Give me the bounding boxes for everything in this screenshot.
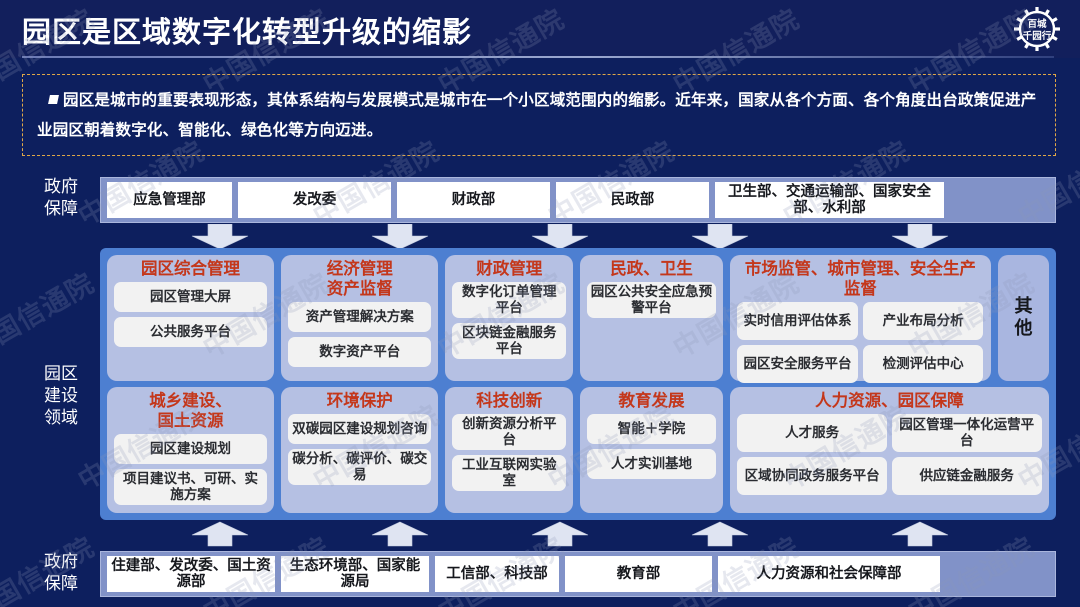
domain-card[interactable]: 人力资源、园区保障人才服务园区管理一体化运营平台区域协同政务服务平台供应链金融服…: [730, 387, 1049, 513]
government-department-cell[interactable]: 生态环境部、国家能源局: [281, 556, 429, 592]
platform-pill[interactable]: 数字资产平台: [288, 337, 431, 367]
park-domain-panel: 园区综合管理园区管理大屏公共服务平台经济管理 资产监督资产管理解决方案数字资产平…: [100, 248, 1056, 520]
government-department-cell[interactable]: 工信部、科技部: [435, 556, 559, 592]
platform-pill[interactable]: 工业互联网实验室: [452, 455, 566, 491]
square-bullet-icon: [48, 95, 59, 104]
connector-up: [530, 521, 590, 549]
domain-card-items: 资产管理解决方案数字资产平台: [288, 302, 431, 375]
description-text: 园区是城市的重要表现形态，其体系结构与发展模式是城市在一个小区域范围内的缩影。近…: [37, 85, 1041, 145]
platform-pill[interactable]: 园区管理一体化运营平台: [892, 414, 1042, 452]
government-department-cell[interactable]: 卫生部、交通运输部、国家安全部、水利部: [715, 182, 944, 218]
platform-pill[interactable]: 项目建议书、可研、实施方案: [114, 469, 267, 505]
row-label-park-construction: 园区 建设 领域: [26, 363, 96, 429]
domain-card-items: 人才服务园区管理一体化运营平台区域协同政务服务平台供应链金融服务: [737, 414, 1042, 507]
platform-pill[interactable]: 创新资源分析平台: [452, 414, 566, 450]
domain-card-title: 环境保护: [327, 391, 393, 411]
brand-logo-gear-icon: 百城 千园行: [1010, 3, 1064, 55]
slide-root: 园区是区域数字化转型升级的缩影 百城 千园行: [0, 0, 1080, 607]
government-department-cell[interactable]: 民政部: [556, 182, 709, 218]
arrow-down-icon: [890, 224, 950, 250]
domain-card[interactable]: 教育发展智能＋学院人才实训基地: [580, 387, 723, 513]
domain-card[interactable]: 科技创新创新资源分析平台工业互联网实验室: [445, 387, 573, 513]
platform-pill[interactable]: 实时信用评估体系: [737, 302, 858, 340]
platform-pill[interactable]: 园区公共安全应急预警平台: [587, 282, 716, 318]
domain-card-items: 智能＋学院人才实训基地: [587, 414, 716, 507]
platform-pill[interactable]: 双碳园区建设规划咨询: [288, 414, 431, 444]
domain-card-items: 数字化订单管理平台区块链金融服务平台: [452, 282, 566, 375]
domain-card[interactable]: 城乡建设、 国土资源园区建设规划项目建议书、可研、实施方案: [107, 387, 274, 513]
government-department-cell[interactable]: 财政部: [397, 182, 550, 218]
platform-pill[interactable]: 碳分析、碳评价、碳交易: [288, 449, 431, 485]
svg-text:百城: 百城: [1027, 18, 1047, 30]
government-department-cell[interactable]: 应急管理部: [107, 182, 232, 218]
domain-card[interactable]: 财政管理数字化订单管理平台区块链金融服务平台: [445, 255, 573, 381]
platform-pill[interactable]: 供应链金融服务: [892, 457, 1042, 495]
platform-pill[interactable]: 园区建设规划: [114, 434, 267, 464]
title-bar: 园区是区域数字化转型升级的缩影: [0, 0, 1080, 58]
domain-card-title: 教育发展: [619, 391, 685, 411]
domain-card-title: 市场监管、城市管理、安全生产监督: [737, 259, 984, 299]
government-strip-top: 应急管理部发改委财政部民政部卫生部、交通运输部、国家安全部、水利部: [100, 177, 1056, 223]
domain-card[interactable]: 经济管理 资产监督资产管理解决方案数字资产平台: [281, 255, 438, 381]
arrow-up-icon: [890, 521, 950, 547]
domain-card-title: 财政管理: [476, 259, 542, 279]
platform-pill[interactable]: 区块链金融服务平台: [452, 323, 566, 359]
government-department-cell[interactable]: 教育部: [565, 556, 712, 592]
domain-card[interactable]: 市场监管、城市管理、安全生产监督实时信用评估体系产业布局分析园区安全服务平台检测…: [730, 255, 991, 381]
arrow-up-icon: [690, 521, 750, 547]
arrow-up-icon: [370, 521, 430, 547]
row-label-government-bottom: 政府 保障: [26, 551, 96, 595]
government-department-cell[interactable]: 发改委: [238, 182, 391, 218]
panel-row: 城乡建设、 国土资源园区建设规划项目建议书、可研、实施方案环境保护双碳园区建设规…: [107, 387, 1049, 513]
domain-card-title: 园区综合管理: [141, 259, 240, 279]
page-title: 园区是区域数字化转型升级的缩影: [22, 9, 472, 51]
connector-up: [370, 521, 430, 549]
arrow-down-icon: [530, 224, 590, 250]
domain-card-items: 园区公共安全应急预警平台: [587, 282, 716, 375]
platform-pill[interactable]: 园区安全服务平台: [737, 345, 858, 383]
platform-pill[interactable]: 人才服务: [737, 414, 887, 452]
domain-card-items: 园区管理大屏公共服务平台: [114, 282, 267, 375]
platform-pill[interactable]: 区域协同政务服务平台: [737, 457, 887, 495]
platform-pill[interactable]: 人才实训基地: [587, 449, 716, 479]
arrow-up-icon: [530, 521, 590, 547]
domain-card-title: 民政、卫生: [610, 259, 693, 279]
domain-card-items: 实时信用评估体系产业布局分析园区安全服务平台检测评估中心: [737, 302, 984, 383]
connector-up: [190, 521, 250, 549]
other-category-box[interactable]: 其他: [998, 255, 1049, 381]
arrow-band-bottom: [100, 521, 1056, 549]
platform-pill[interactable]: 公共服务平台: [114, 317, 267, 347]
domain-card-title: 城乡建设、 国土资源: [149, 391, 232, 431]
arrow-up-icon: [190, 521, 250, 547]
arrow-down-icon: [190, 224, 250, 250]
connector-up: [890, 521, 950, 549]
panel-row: 园区综合管理园区管理大屏公共服务平台经济管理 资产监督资产管理解决方案数字资产平…: [107, 255, 1049, 381]
domain-card-title: 经济管理 资产监督: [327, 259, 393, 299]
other-category-label: 其他: [1013, 296, 1035, 340]
domain-card-items: 创新资源分析平台工业互联网实验室: [452, 414, 566, 507]
domain-card[interactable]: 民政、卫生园区公共安全应急预警平台: [580, 255, 723, 381]
platform-pill[interactable]: 产业布局分析: [863, 302, 984, 340]
domain-card[interactable]: 园区综合管理园区管理大屏公共服务平台: [107, 255, 274, 381]
platform-pill[interactable]: 园区管理大屏: [114, 282, 267, 312]
platform-pill[interactable]: 数字化订单管理平台: [452, 282, 566, 318]
domain-card-items: 园区建设规划项目建议书、可研、实施方案: [114, 434, 267, 507]
title-divider: [22, 56, 1054, 58]
platform-pill[interactable]: 检测评估中心: [863, 345, 984, 383]
arrow-down-icon: [370, 224, 430, 250]
government-department-cell[interactable]: 人力资源和社会保障部: [718, 556, 940, 592]
platform-pill[interactable]: 资产管理解决方案: [288, 302, 431, 332]
description-callout: 园区是城市的重要表现形态，其体系结构与发展模式是城市在一个小区域范围内的缩影。近…: [22, 74, 1056, 156]
domain-card[interactable]: 环境保护双碳园区建设规划咨询碳分析、碳评价、碳交易: [281, 387, 438, 513]
connector-up: [690, 521, 750, 549]
government-strip-bottom: 住建部、发改委、国土资源部生态环境部、国家能源局工信部、科技部教育部人力资源和社…: [100, 551, 1056, 597]
domain-card-title: 人力资源、园区保障: [815, 391, 964, 411]
row-label-government-top: 政府 保障: [26, 176, 96, 220]
arrow-down-icon: [690, 224, 750, 250]
svg-text:千园行: 千园行: [1023, 30, 1052, 42]
government-department-cell[interactable]: 住建部、发改委、国土资源部: [107, 556, 275, 592]
domain-card-title: 科技创新: [476, 391, 542, 411]
domain-card-items: 双碳园区建设规划咨询碳分析、碳评价、碳交易: [288, 414, 431, 507]
platform-pill[interactable]: 智能＋学院: [587, 414, 716, 444]
